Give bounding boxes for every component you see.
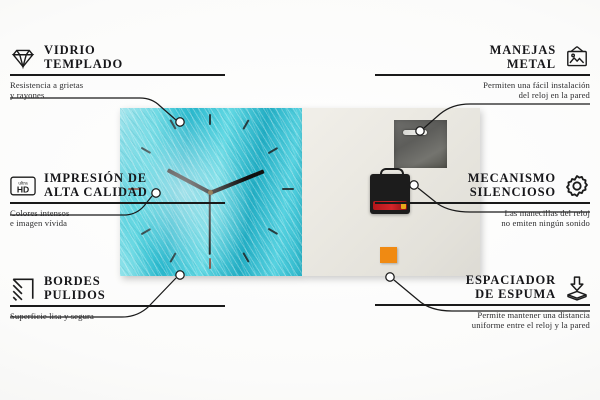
- clock-tick: [209, 258, 211, 269]
- feature-mecanismo-silencioso: MECANISMOSILENCIOSO Las manecillas del r…: [375, 172, 590, 229]
- clock-tick: [282, 188, 294, 190]
- feature-title: MANEJASMETAL: [490, 44, 556, 71]
- diagonal-stripes-icon: [10, 276, 36, 302]
- feature-description: Superficie lisa y segura: [10, 311, 225, 322]
- picture-frame-icon: [564, 45, 590, 71]
- feature-description: Permiten una fácil instalacióndel reloj …: [375, 80, 590, 101]
- clock-tick: [268, 228, 278, 235]
- diamond-icon: [10, 45, 36, 71]
- infographic-canvas: VIDRIOTEMPLADO Resistencia a grietasy ra…: [0, 0, 600, 400]
- feature-title: IMPRESIÓN DEALTA CALIDAD: [44, 172, 148, 199]
- hanger-slot: [403, 130, 427, 135]
- feature-bordes-pulidos: BORDESPULIDOS Superficie lisa y segura: [10, 275, 225, 321]
- feature-espaciador-espuma: ESPACIADORDE ESPUMA Permite mantener una…: [375, 274, 590, 331]
- clock-tick: [141, 147, 151, 154]
- divider: [10, 202, 225, 204]
- feature-title: MECANISMOSILENCIOSO: [468, 172, 556, 199]
- clock-tick: [209, 114, 211, 125]
- clock-tick: [242, 252, 249, 262]
- divider: [10, 305, 225, 307]
- divider: [375, 304, 590, 306]
- feature-description: Permite mantener una distanciauniforme e…: [375, 310, 590, 331]
- clock-tick: [169, 252, 176, 262]
- foam-spacer: [380, 247, 397, 263]
- svg-text:HD: HD: [17, 184, 29, 194]
- feature-header: BORDESPULIDOS: [10, 275, 225, 302]
- feature-title: BORDESPULIDOS: [44, 275, 106, 302]
- feature-description: Resistencia a grietasy rayones: [10, 80, 225, 101]
- feature-impresion-alta-calidad: ultra HD IMPRESIÓN DEALTA CALIDAD Colore…: [10, 172, 225, 229]
- feature-vidrio-templado: VIDRIOTEMPLADO Resistencia a grietasy ra…: [10, 44, 225, 101]
- divider: [375, 202, 590, 204]
- divider: [375, 74, 590, 76]
- feature-header: VIDRIOTEMPLADO: [10, 44, 225, 71]
- feature-manejas-metal: MANEJASMETAL Permiten una fácil instalac…: [375, 44, 590, 101]
- clock-tick: [169, 119, 176, 129]
- ultra-hd-icon: ultra HD: [10, 173, 36, 199]
- metal-hanger: [394, 120, 447, 168]
- feature-title: VIDRIOTEMPLADO: [44, 44, 123, 71]
- feature-description: Colores intensose imagen vívida: [10, 208, 225, 229]
- feature-description: Las manecillas del relojno emiten ningún…: [375, 208, 590, 229]
- feature-header: MECANISMOSILENCIOSO: [375, 172, 590, 199]
- feature-header: MANEJASMETAL: [375, 44, 590, 71]
- clock-tick: [141, 228, 151, 235]
- feature-header: ESPACIADORDE ESPUMA: [375, 274, 590, 301]
- feature-header: ultra HD IMPRESIÓN DEALTA CALIDAD: [10, 172, 225, 199]
- gear-icon: [564, 173, 590, 199]
- divider: [10, 74, 225, 76]
- press-down-arrow-icon: [564, 275, 590, 301]
- feature-title: ESPACIADORDE ESPUMA: [466, 274, 556, 301]
